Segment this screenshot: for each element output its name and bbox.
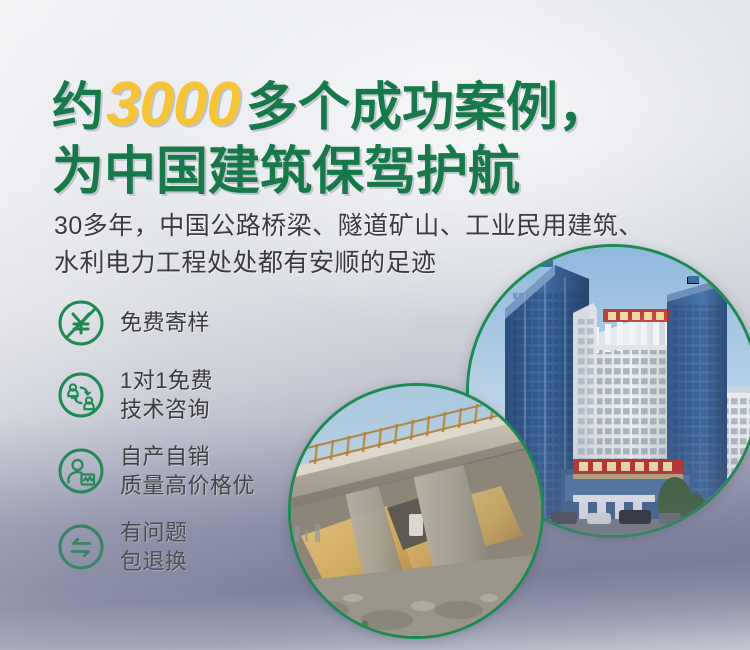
- headline-suffix: 多个成功案例，: [246, 79, 610, 137]
- page-title: 约3000多个成功案例， 为中国建筑保驾护航: [52, 74, 610, 198]
- feature-line: 1对1免费: [120, 366, 213, 395]
- feature-item-self-production[interactable]: 自产自销 质量高价格优: [56, 442, 255, 500]
- headline-prefix: 约: [52, 79, 104, 137]
- feature-label-self-production: 自产自销 质量高价格优: [120, 442, 255, 500]
- promo-banner: 约3000多个成功案例， 为中国建筑保驾护航 30多年，中国公路桥梁、隧道矿山、…: [0, 0, 750, 650]
- feature-item-return-exchange[interactable]: 有问题 包退换: [56, 518, 255, 576]
- feature-line: 免费寄样: [120, 308, 210, 337]
- headline-number: 3000: [104, 70, 246, 139]
- no-yuan-icon: [56, 298, 106, 348]
- subtitle-line-1: 30多年，中国公路桥梁、隧道矿山、工业民用建筑、: [54, 208, 644, 245]
- feature-line: 有问题: [120, 518, 188, 547]
- feature-line: 技术咨询: [120, 395, 213, 424]
- one-to-one-consult-icon: [56, 370, 106, 420]
- feature-label-return-exchange: 有问题 包退换: [120, 518, 188, 576]
- headline-line-2: 为中国建筑保驾护航: [52, 146, 610, 198]
- feature-line: 自产自销: [120, 442, 255, 471]
- feature-item-consulting[interactable]: 1对1免费 技术咨询: [56, 366, 255, 424]
- exchange-return-icon: [56, 522, 106, 572]
- feature-item-free-sample[interactable]: 免费寄样: [56, 298, 255, 348]
- feature-line: 质量高价格优: [120, 471, 255, 500]
- bridge-photo: [288, 383, 544, 639]
- headline-line-1: 约3000多个成功案例，: [52, 74, 610, 136]
- feature-label-free-sample: 免费寄样: [120, 308, 210, 337]
- headline-line2-text: 为中国建筑保驾护航: [52, 143, 520, 201]
- feature-list: 免费寄样 1对1免费 技术咨询: [56, 298, 255, 594]
- self-production-chart-icon: [56, 446, 106, 496]
- feature-label-consulting: 1对1免费 技术咨询: [120, 366, 213, 424]
- bridge-photo-illustration: [291, 386, 541, 636]
- feature-line: 包退换: [120, 547, 188, 576]
